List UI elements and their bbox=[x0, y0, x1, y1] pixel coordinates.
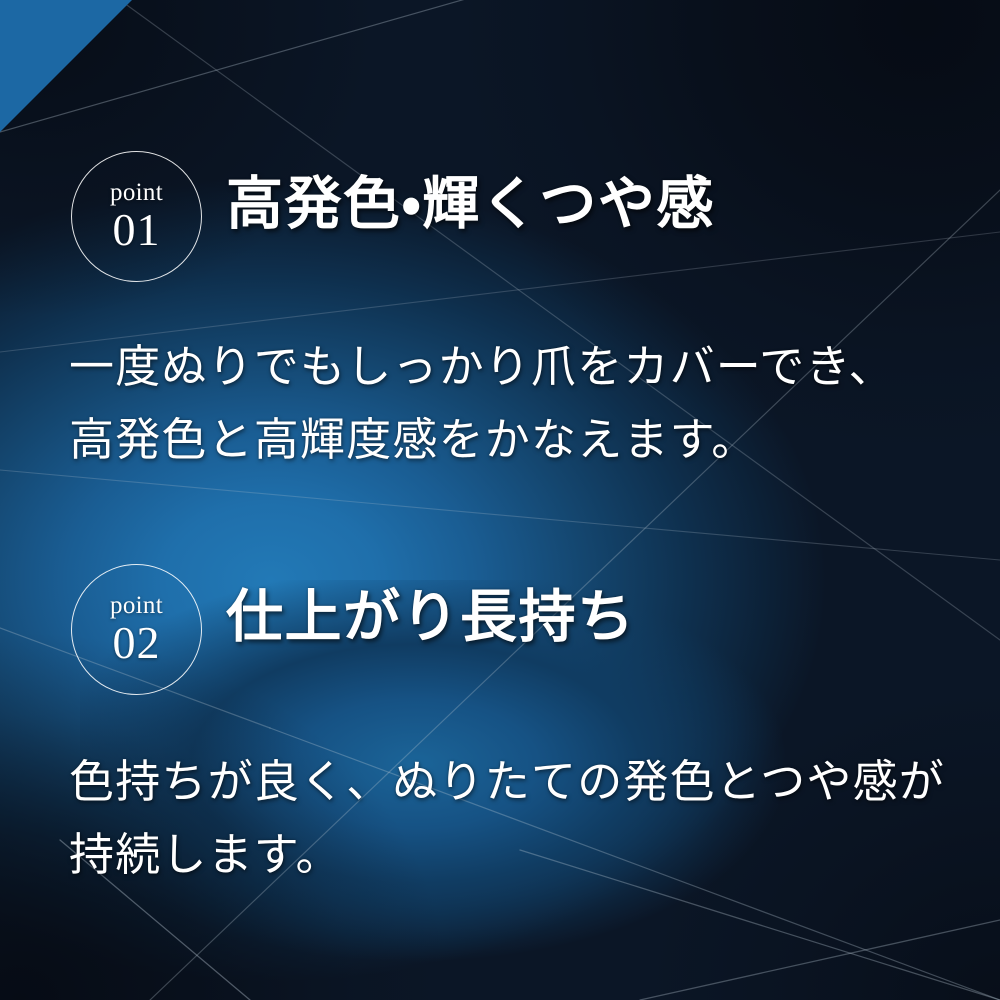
point-header-01: point 01 高発色・輝くつや感 bbox=[0, 148, 1000, 288]
point-header-02: point 02 仕上がり長持ち bbox=[0, 561, 1000, 701]
point-body-line: 一度ぬりでもしっかり爪をカバーでき、 bbox=[69, 331, 969, 404]
point-body-02: 色持ちが良く、ぬりたての発色とつや感が 持続します。 bbox=[69, 746, 969, 892]
point-body-line: 高発色と高輝度感をかなえます。 bbox=[69, 404, 969, 477]
point-badge-02: point 02 bbox=[71, 564, 202, 695]
point-badge-label: point bbox=[110, 593, 163, 618]
point-body-line: 持続します。 bbox=[69, 819, 969, 892]
corner-accent-triangle bbox=[0, 0, 132, 132]
point-title-01: 高発色・輝くつや感 bbox=[226, 172, 715, 238]
point-body-01: 一度ぬりでもしっかり爪をカバーでき、 高発色と高輝度感をかなえます。 bbox=[69, 331, 969, 477]
point-body-line: 色持ちが良く、ぬりたての発色とつや感が bbox=[69, 746, 969, 819]
point-section-02: point 02 仕上がり長持ち 色持ちが良く、ぬりたての発色とつや感が 持続し… bbox=[0, 561, 1000, 701]
point-title-02: 仕上がり長持ち bbox=[226, 585, 636, 651]
point-badge-number: 01 bbox=[113, 207, 161, 253]
point-badge-01: point 01 bbox=[71, 151, 202, 282]
point-badge-number: 02 bbox=[113, 620, 161, 666]
point-section-01: point 01 高発色・輝くつや感 一度ぬりでもしっかり爪をカバーでき、 高発… bbox=[0, 148, 1000, 288]
point-badge-label: point bbox=[110, 180, 163, 205]
feature-points-panel: point 01 高発色・輝くつや感 一度ぬりでもしっかり爪をカバーでき、 高発… bbox=[0, 0, 1000, 1000]
